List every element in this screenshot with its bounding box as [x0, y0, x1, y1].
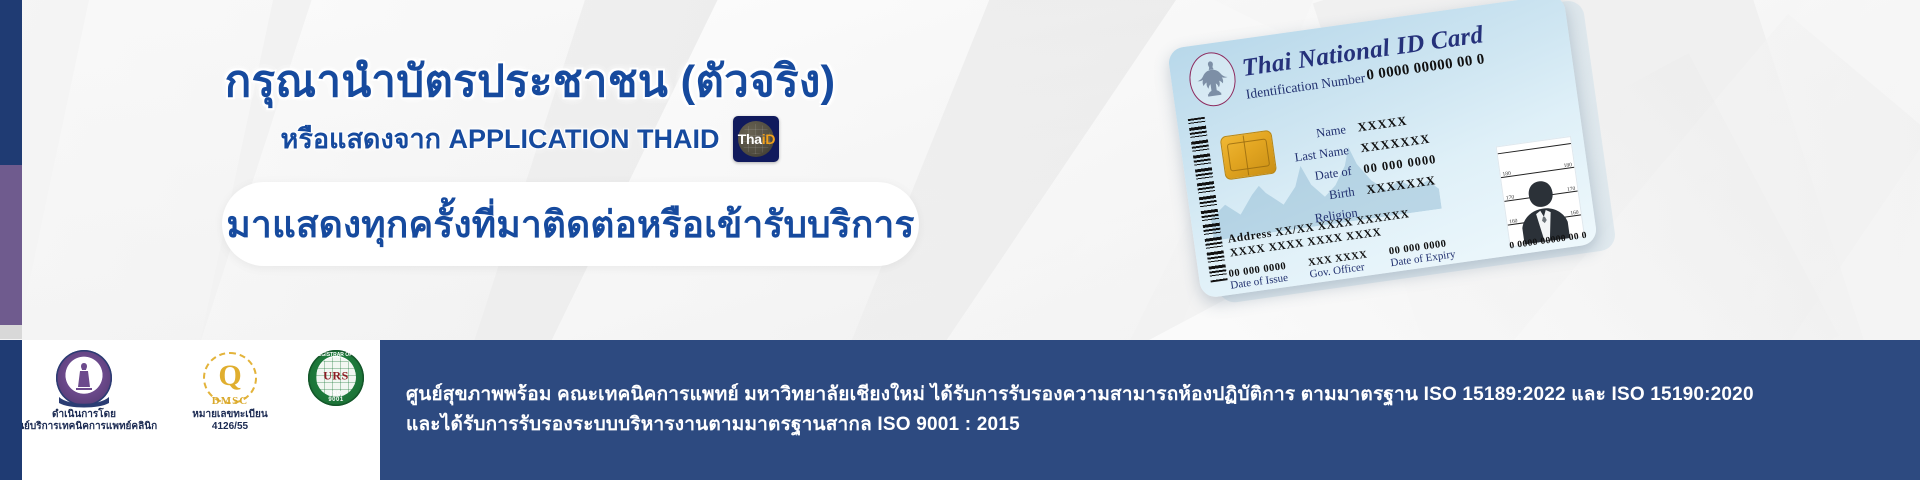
- urs-seal-icon: UNITED REGISTRAR OF SYSTEMS URS ISO 9001: [308, 350, 364, 406]
- callout-pill-text: มาแสดงทุกครั้งที่มาติดต่อหรือเข้ารับบริก…: [226, 195, 914, 254]
- thaid-logo-text-white: Tha: [738, 131, 762, 147]
- urs-letters: URS: [323, 369, 349, 384]
- footer-bar: ดำเนินการโดย ศูนย์บริการเทคนิคการแพทย์คล…: [0, 340, 1920, 480]
- logo-university-clinic: ดำเนินการโดย ศูนย์บริการเทคนิคการแพทย์คล…: [9, 350, 159, 433]
- seal-ribbon-icon: [57, 394, 111, 408]
- accent-stripe-purple: [0, 165, 22, 325]
- photo-tick-left: 180: [1502, 171, 1511, 178]
- footer-accent-stripe: [0, 340, 22, 480]
- dmsc-q-letter: Q: [218, 361, 241, 391]
- accent-stripe-divider: [0, 325, 22, 339]
- thaid-app-icon: ThaiD: [733, 116, 779, 162]
- logo-caption-line1: ดำเนินการโดย: [9, 409, 159, 421]
- headline-block: กรุณานำบัตรประชาชน (ตัวจริง) หรือแสดงจาก…: [0, 56, 1060, 162]
- card-issue-date: 00 000 0000 Date of Issue: [1228, 261, 1289, 292]
- logo-urs-iso9001: UNITED REGISTRAR OF SYSTEMS URS ISO 9001: [301, 350, 371, 406]
- card-expiry: 00 000 0000 Date of Expiry: [1388, 237, 1456, 269]
- garuda-glyph: [1191, 55, 1235, 104]
- card-officer: XXX XXXX Gov. Officer: [1307, 250, 1369, 281]
- headline-secondary: หรือแสดงจาก APPLICATION THAID: [281, 123, 720, 155]
- dmsc-sub-label: DMSC: [212, 395, 248, 407]
- university-seal-icon: [56, 350, 112, 406]
- footer-logos: ดำเนินการโดย ศูนย์บริการเทคนิคการแพทย์คล…: [0, 340, 380, 480]
- smart-chip-icon: [1220, 130, 1278, 181]
- garuda-emblem-icon: [1186, 49, 1239, 109]
- photo-tick-right: 180: [1563, 162, 1572, 169]
- thaid-logo-text-gold: iD: [762, 131, 775, 147]
- urs-iso-label: ISO 9001: [322, 391, 350, 403]
- footer-text-block: ศูนย์สุขภาพพร้อม คณะเทคนิคการแพทย์ มหาวิ…: [406, 380, 1754, 440]
- poster-canvas: กรุณานำบัตรประชาชน (ตัวจริง) หรือแสดงจาก…: [0, 0, 1920, 480]
- footer-line-1: ศูนย์สุขภาพพร้อม คณะเทคนิคการแพทย์ มหาวิ…: [406, 380, 1754, 410]
- urs-top-label: UNITED REGISTRAR OF SYSTEMS: [294, 352, 377, 358]
- headline-primary: กรุณานำบัตรประชาชน (ตัวจริง): [0, 56, 1060, 108]
- footer-line-2: และได้รับการรับรองระบบบริหารงานตามมาตรฐา…: [406, 410, 1754, 440]
- dmsc-q-icon: Q DMSC: [201, 350, 259, 406]
- callout-pill: มาแสดงทุกครั้งที่มาติดต่อหรือเข้ารับบริก…: [222, 182, 919, 266]
- footer-accreditation-text: ศูนย์สุขภาพพร้อม คณะเทคนิคการแพทย์ มหาวิ…: [380, 340, 1920, 480]
- logo-caption-line2: ศูนย์บริการเทคนิคการแพทย์คลินิก: [9, 421, 159, 433]
- photo-rule: [1498, 143, 1571, 154]
- logo-caption: ดำเนินการโดย ศูนย์บริการเทคนิคการแพทย์คล…: [9, 409, 159, 433]
- logo-caption: หมายเลขทะเบียน 4126/55: [175, 409, 285, 433]
- logo-caption-line1: หมายเลขทะเบียน 4126/55: [175, 409, 285, 433]
- headline-secondary-row: หรือแสดงจาก APPLICATION THAID ThaiD: [0, 116, 1060, 162]
- seal-figure-icon: [71, 361, 97, 391]
- thai-id-card-illustration: Thai National ID Card Identification Num…: [1167, 0, 1633, 337]
- card-photo: 180 180 170 170 160 160: [1496, 136, 1585, 248]
- thaid-logo-text: ThaiD: [738, 132, 775, 146]
- seal-figure-glyph: [71, 361, 97, 391]
- card-field-values: XXXXX XXXXXXX 00 000 0000 XXXXXXX: [1356, 107, 1440, 200]
- logo-dmsc-quality: Q DMSC หมายเลขทะเบียน 4126/55: [175, 350, 285, 433]
